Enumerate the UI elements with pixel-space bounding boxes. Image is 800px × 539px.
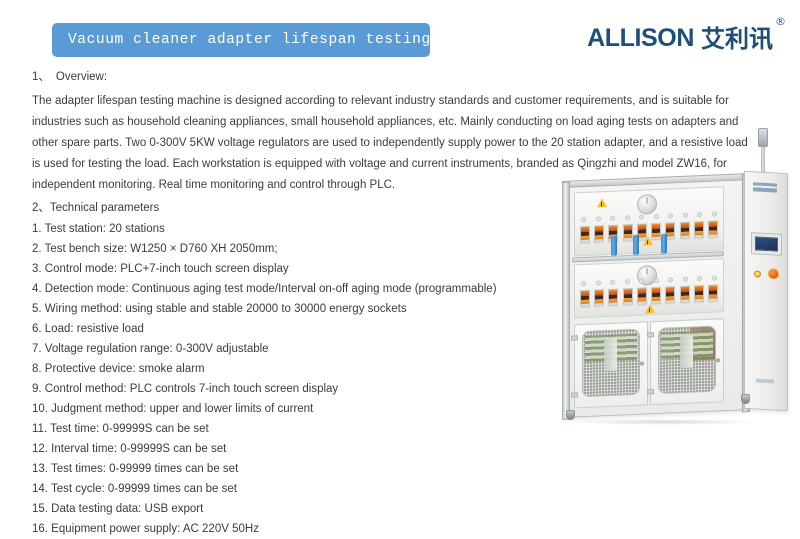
product-photo-stage bbox=[548, 158, 798, 443]
socket bbox=[639, 214, 644, 219]
voltage-current-meter bbox=[594, 225, 604, 242]
registered-trademark-icon: ® bbox=[775, 16, 786, 27]
socket bbox=[610, 280, 615, 285]
voltage-current-meter bbox=[708, 284, 718, 301]
control-panel-column bbox=[744, 171, 788, 411]
socket bbox=[625, 215, 630, 220]
list-item: 15. Data testing data: USB export bbox=[32, 499, 792, 519]
hmi-touchscreen[interactable] bbox=[751, 232, 782, 256]
tower-light-lamp-icon bbox=[758, 128, 768, 147]
voltage-current-meter bbox=[580, 290, 590, 307]
hinge-icon bbox=[571, 392, 578, 397]
internal-panel bbox=[604, 339, 616, 372]
warning-triangle-icon bbox=[645, 304, 655, 313]
socket bbox=[697, 212, 702, 217]
voltage-current-meter bbox=[708, 220, 718, 237]
door-latch[interactable] bbox=[716, 358, 720, 362]
voltage-current-meter bbox=[694, 221, 704, 238]
warning-triangle-icon bbox=[643, 236, 653, 245]
voltage-current-meter bbox=[694, 285, 704, 302]
voltage-regulator-knob bbox=[637, 194, 657, 215]
hmi-screen-surface[interactable] bbox=[755, 236, 778, 251]
mesh-window bbox=[658, 325, 716, 393]
hinge-icon bbox=[571, 335, 578, 340]
voltage-current-meter bbox=[594, 289, 604, 306]
voltage-current-meter bbox=[608, 289, 618, 306]
logo-text-english: ALLISON bbox=[587, 26, 694, 51]
voltage-current-meter bbox=[665, 286, 675, 303]
technical-parameters-number: 2、 bbox=[32, 202, 50, 214]
voltage-current-meter bbox=[580, 226, 590, 243]
socket bbox=[683, 277, 688, 282]
voltage-current-meter bbox=[623, 288, 633, 305]
machine-cabinet bbox=[566, 176, 746, 418]
voltage-current-meter bbox=[637, 287, 647, 304]
socket bbox=[639, 278, 644, 283]
socket bbox=[625, 279, 630, 284]
cabinet-door-left[interactable] bbox=[574, 321, 648, 408]
page-title-banner: Vacuum cleaner adapter lifespan testing … bbox=[52, 23, 430, 57]
company-logo: ALLISON 艾利讯 ® bbox=[587, 26, 786, 51]
socket bbox=[581, 217, 586, 222]
socket bbox=[697, 276, 702, 281]
voltage-current-meter bbox=[680, 222, 690, 239]
product-photo bbox=[548, 158, 798, 443]
indicator-lamp-button[interactable] bbox=[754, 270, 761, 277]
frame-post-left bbox=[562, 182, 570, 420]
caster-wheel bbox=[741, 394, 750, 404]
logo-text-chinese: 艾利讯 bbox=[701, 27, 773, 51]
socket bbox=[596, 280, 601, 285]
adapter-under-test bbox=[661, 234, 667, 254]
page-title: Vacuum cleaner adapter lifespan testing … bbox=[68, 32, 505, 48]
socket bbox=[683, 213, 688, 218]
lower-test-bay bbox=[574, 258, 724, 318]
overview-heading: 1、Overview: bbox=[32, 68, 792, 84]
voltage-current-meter bbox=[651, 287, 661, 304]
lower-cabinet-doors bbox=[574, 318, 724, 408]
socket bbox=[654, 278, 659, 283]
mesh-window bbox=[582, 329, 640, 397]
panel-brand-label bbox=[753, 182, 777, 192]
hinge-icon bbox=[647, 332, 654, 337]
warning-triangle-icon bbox=[597, 198, 607, 207]
socket bbox=[654, 214, 659, 219]
floor-shadow bbox=[572, 419, 758, 425]
overview-number: 1、 bbox=[32, 71, 50, 83]
voltage-current-meter bbox=[680, 286, 690, 303]
hinge-icon bbox=[647, 389, 654, 394]
socket bbox=[596, 216, 601, 221]
socket bbox=[668, 213, 673, 218]
panel-nameplate bbox=[756, 378, 774, 383]
list-item: 13. Test times: 0-99999 times can be set bbox=[32, 459, 792, 479]
adapter-under-test bbox=[611, 236, 617, 256]
socket bbox=[581, 281, 586, 286]
door-latch[interactable] bbox=[640, 362, 644, 366]
technical-parameters-heading-label: Technical parameters bbox=[50, 202, 159, 214]
adapter-under-test bbox=[633, 235, 639, 255]
socket bbox=[712, 275, 717, 280]
list-item: 14. Test cycle: 0-99999 times can be set bbox=[32, 479, 792, 499]
voltage-current-meter bbox=[623, 224, 633, 241]
overview-heading-label: Overview: bbox=[56, 71, 107, 83]
socket bbox=[712, 211, 717, 216]
socket bbox=[610, 216, 615, 221]
internal-panel bbox=[680, 335, 692, 368]
upper-test-bay bbox=[574, 186, 724, 256]
list-item: 16. Equipment power supply: AC 220V 50Hz bbox=[32, 519, 792, 539]
cabinet-door-right[interactable] bbox=[650, 318, 724, 405]
socket bbox=[668, 277, 673, 282]
emergency-stop-button[interactable] bbox=[768, 268, 779, 280]
